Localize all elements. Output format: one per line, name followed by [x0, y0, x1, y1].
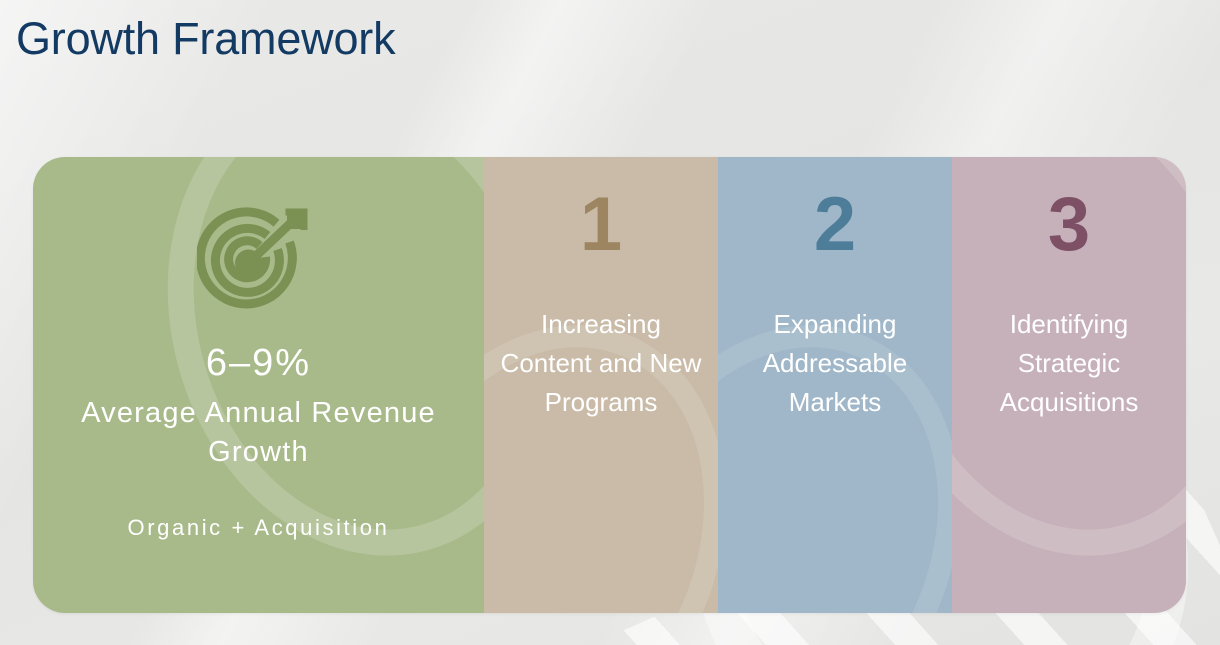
step-label-1: Increasing Content and New Programs: [484, 305, 718, 422]
growth-framework-panel-group: 6–9% Average Annual Revenue Growth Organ…: [33, 157, 1186, 613]
step-number-3: 3: [1048, 187, 1090, 263]
slide-canvas: Growth Framework: [0, 0, 1220, 645]
hero-stat-note: Organic + Acquisition: [128, 515, 390, 541]
step-number-1: 1: [580, 187, 622, 263]
panel-step-2[interactable]: 2 Expanding Addressable Markets: [718, 157, 952, 613]
panel-step-1[interactable]: 1 Increasing Content and New Programs: [484, 157, 718, 613]
step-label-3: Identifying Strategic Acquisitions: [952, 305, 1186, 422]
target-arrow-icon: [197, 201, 321, 318]
panel-step-3[interactable]: 3 Identifying Strategic Acquisitions: [952, 157, 1186, 613]
hero-stat-subtitle: Average Annual Revenue Growth: [33, 394, 484, 471]
step-number-2: 2: [814, 187, 856, 263]
step-label-2: Expanding Addressable Markets: [718, 305, 952, 422]
hero-stat-value: 6–9%: [206, 344, 311, 382]
page-title: Growth Framework: [16, 12, 395, 65]
panel-growth-target[interactable]: 6–9% Average Annual Revenue Growth Organ…: [33, 157, 484, 613]
